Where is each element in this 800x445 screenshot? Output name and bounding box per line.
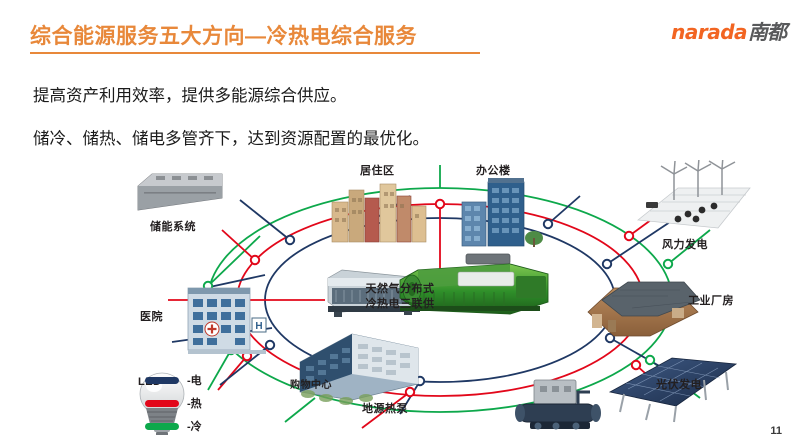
legend-row-power: -电 [145,372,202,388]
node-label-residential: 居住区 [360,162,395,178]
logo-latin-text: narada [671,20,747,44]
node-label-solar: 光伏发电 [656,376,702,392]
slide-canvas: 综合能源服务五大方向—冷热电综合服务 narada 南都 提高资产利用效率，提供… [0,0,800,445]
legend-row-heat: -热 [145,395,202,411]
node-label-energy-storage: 储能系统 [150,218,196,234]
diagram-legend: -电 -热 -冷 [145,372,202,434]
node-label-office: 办公楼 [476,162,511,178]
legend-label-power: -电 [187,372,202,388]
narada-logo: narada 南都 [671,16,786,45]
legend-swatch-heat [145,400,179,407]
node-label-mall: 购物中心 [290,376,332,391]
node-label-wind: 风力发电 [662,236,708,252]
hospital-building-icon: H [188,288,266,354]
factory-icon [588,282,700,336]
svg-text:H: H [255,321,262,332]
wind-turbines-icon [638,160,750,228]
page-title: 综合能源服务五大方向—冷热电综合服务 [30,20,417,50]
body-paragraph-1: 提高资产利用效率，提供多能源综合供应。 [33,82,347,106]
energy-network-diagram: H [110,160,770,435]
title-underline-divider [30,52,480,54]
node-label-hospital: 医院 [140,308,163,324]
center-caption-line-2: 冷热电三联供 [335,297,465,312]
body-paragraph-2: 储冷、储热、储电多管齐下，达到资源配置的最优化。 [33,125,429,149]
node-label-heat-pump: 地源热泵 [362,400,408,416]
node-label-industrial: 工业厂房 [688,292,734,308]
legend-swatch-power [145,377,179,384]
center-caption: 天然气分布式 冷热电三联供 [335,282,465,312]
legend-row-cold: -冷 [145,418,202,434]
battery-rack-icon [138,174,222,210]
legend-label-heat: -热 [187,395,202,411]
legend-label-cold: -冷 [187,418,202,434]
legend-swatch-cold [145,423,179,430]
logo-chinese-text: 南都 [748,16,786,45]
page-number: 11 [770,425,782,437]
center-caption-line-1: 天然气分布式 [335,282,465,297]
